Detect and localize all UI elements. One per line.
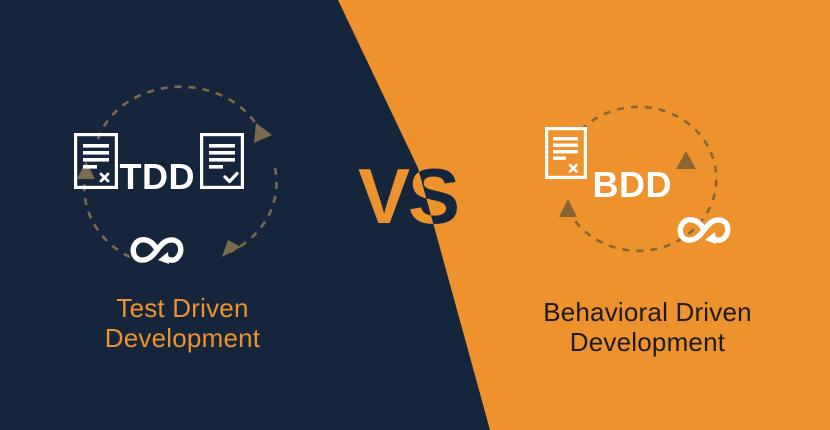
document-pass-icon: [200, 133, 244, 189]
vs-badge: VS VS: [358, 155, 478, 241]
arrowhead-right: [222, 240, 241, 257]
document-fail-icon: [545, 127, 587, 179]
tdd-caption: Test Driven Development: [105, 294, 260, 354]
bdd-caption: Behavioral Driven Development: [543, 298, 752, 358]
tdd-acronym: TDD: [120, 159, 196, 195]
document-fail-icon: [74, 133, 118, 189]
refactor-loop-icon: [673, 210, 735, 250]
tdd-panel: TDD Test Driven Development: [0, 0, 365, 430]
loop-arrowhead: [158, 252, 169, 264]
arrowhead-down: [676, 151, 696, 169]
bdd-caption-line1: Behavioral Driven: [543, 298, 752, 328]
bdd-cycle-diagram: BDD: [533, 105, 763, 280]
arrowhead-top: [254, 123, 272, 143]
arrowhead-up: [559, 199, 577, 217]
tdd-cycle-diagram: TDD: [68, 105, 298, 280]
bdd-acronym: BDD: [593, 167, 673, 203]
refactor-loop-icon: [126, 230, 188, 270]
bdd-panel: BDD Behavioral Driven Development: [465, 0, 830, 430]
loop-arrowhead: [705, 232, 716, 244]
tdd-caption-line2: Development: [105, 324, 260, 354]
bdd-caption-line2: Development: [543, 328, 752, 358]
tdd-caption-line1: Test Driven: [105, 294, 260, 324]
tdd-vs-bdd-graphic: TDD Test Driven Development: [0, 0, 830, 430]
